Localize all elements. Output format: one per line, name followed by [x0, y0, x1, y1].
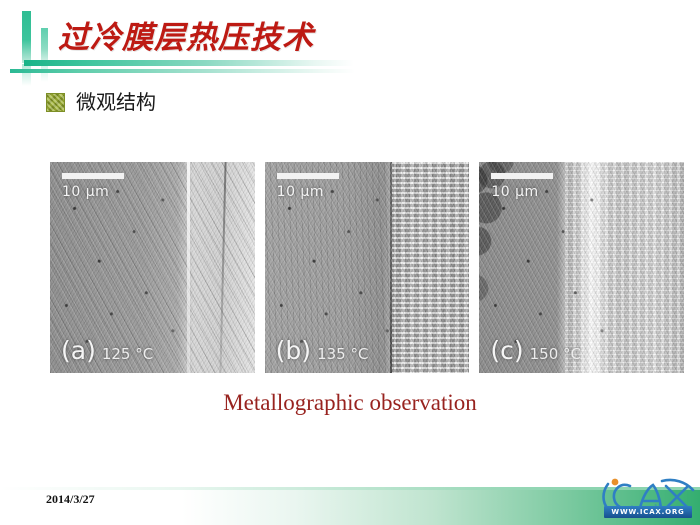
square-bullet-icon — [46, 93, 65, 112]
micrograph-b-temperature: 135 °C — [317, 347, 368, 362]
scale-bar-c — [491, 173, 553, 179]
micrograph-panel-b: 10 µm (b) 135 °C — [265, 162, 470, 373]
title-accent-bar-tall-reflection — [22, 64, 31, 86]
scale-bar-label-b: 10 µm — [277, 184, 324, 200]
micrograph-a-caption: (a) 125 °C — [61, 338, 153, 363]
scale-bar-label-a: 10 µm — [62, 184, 109, 200]
slide-title: 过冷膜层热压技术 — [58, 12, 314, 57]
micrograph-b-caption: (b) 135 °C — [276, 338, 369, 363]
scale-bar-a — [62, 173, 124, 179]
micrograph-a-letter: (a) — [61, 338, 96, 363]
micrograph-panel-c: 10 µm (c) 150 °C — [479, 162, 684, 373]
micrograph-c-caption: (c) 150 °C — [490, 338, 581, 363]
footer-date: 2014/3/27 — [46, 492, 95, 507]
title-divider-line-lower — [10, 69, 355, 73]
title-divider-line-upper — [24, 60, 354, 66]
bullet-item-label: 微观结构 — [76, 92, 156, 112]
scale-bar-b — [277, 173, 339, 179]
icax-logo-url-text: WWW.ICAX.ORG — [611, 508, 684, 516]
micrograph-panel-group: 10 µm (a) 125 °C 10 µm (b) 135 °C — [50, 162, 684, 373]
footer-bar — [0, 487, 700, 525]
micrograph-c-temperature: 150 °C — [530, 347, 581, 362]
title-accent-bar-tall — [22, 11, 31, 63]
micrograph-panel-a: 10 µm (a) 125 °C — [50, 162, 255, 373]
title-accent-bar-short — [41, 28, 48, 63]
scale-bar-label-c: 10 µm — [491, 184, 538, 200]
icax-logo-url-banner: WWW.ICAX.ORG — [604, 506, 692, 518]
title-accent-bar-short-reflection — [41, 64, 48, 82]
micrograph-a-temperature: 125 °C — [102, 347, 153, 362]
icax-logo-dot — [612, 479, 619, 486]
footer-bar-highlight — [0, 487, 700, 490]
slide-canvas: 过冷膜层热压技术 微观结构 10 µm (a) 125 °C — [0, 0, 700, 525]
icax-logo[interactable]: 11 WWW.ICAX.ORG — [600, 478, 696, 522]
micrograph-c-letter: (c) — [490, 338, 523, 363]
bullet-item-microstructure: 微观结构 — [46, 92, 156, 112]
figure-caption: Metallographic observation — [0, 390, 700, 416]
micrograph-b-letter: (b) — [276, 338, 311, 363]
